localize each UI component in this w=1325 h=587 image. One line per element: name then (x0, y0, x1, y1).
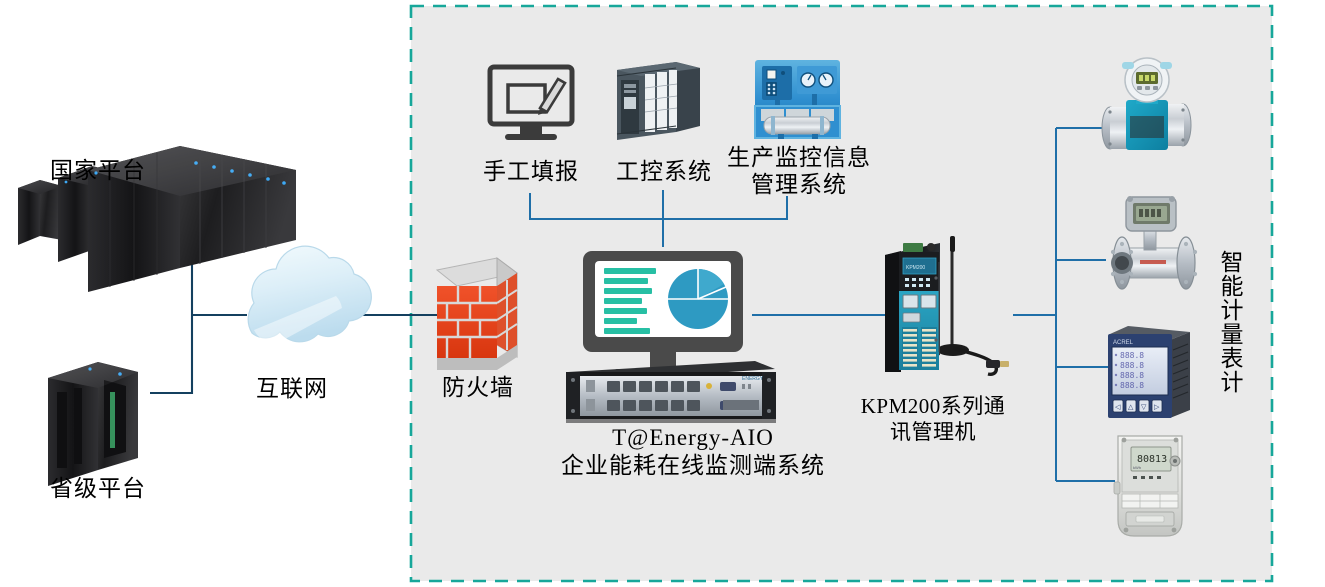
plc-cabinet-icon (617, 62, 700, 140)
svg-text:888.8: 888.8 (1120, 351, 1144, 360)
svg-text:80813: 80813 (1137, 454, 1167, 465)
svg-text:kWh: kWh (1133, 465, 1141, 470)
label-national-platform: 国家平台 (18, 157, 178, 184)
label-server-name: T@Energy-AIO (548, 424, 838, 451)
svg-text:△: △ (1128, 403, 1134, 411)
svg-text:▷: ▷ (1154, 403, 1160, 411)
firewall-brick-icon (437, 258, 517, 370)
label-province-platform: 省级平台 (18, 475, 178, 502)
svg-text:ENERGY: ENERGY (742, 376, 764, 382)
rackmount-server-icon: ENERGY (566, 361, 776, 423)
svg-text:▽: ▽ (1141, 403, 1147, 411)
svg-text:888.8: 888.8 (1120, 371, 1144, 380)
label-manual-entry: 手工填报 (471, 158, 591, 185)
diagram-graphics: ENERGY KPM200 (0, 0, 1325, 587)
svg-text:888.8: 888.8 (1120, 361, 1144, 370)
dashboard-pie (668, 269, 728, 329)
label-firewall: 防火墙 (415, 374, 541, 401)
compressor-tank-icon (755, 60, 840, 139)
multifunction-power-meter-icon: ACREL 888.8 888.8 888.8 888.8 ◁△ (1108, 326, 1190, 418)
label-gateway-line1: KPM200系列通 (833, 394, 1033, 419)
label-smart-meters-group: 智能计量表计 (1214, 250, 1245, 394)
label-industrial-control: 工控系统 (604, 158, 724, 185)
label-server-subtitle: 企业能耗在线监测端系统 (538, 452, 848, 479)
svg-text:888.8: 888.8 (1120, 381, 1144, 390)
svg-text:ACREL: ACREL (1113, 340, 1134, 346)
label-production-mis: 生产监控信息 管理系统 (709, 144, 889, 198)
svg-text:◁: ◁ (1115, 403, 1121, 411)
svg-text:KPM200: KPM200 (906, 265, 925, 271)
cloud-icon (248, 246, 371, 344)
diagram-canvas: ENERGY KPM200 (0, 0, 1325, 587)
three-phase-electricity-meter-icon: 80813 kWh (1114, 436, 1182, 536)
server-rack-icon-province (48, 362, 138, 486)
label-gateway-line2: 讯管理机 (833, 420, 1033, 445)
label-internet: 互联网 (232, 375, 352, 402)
